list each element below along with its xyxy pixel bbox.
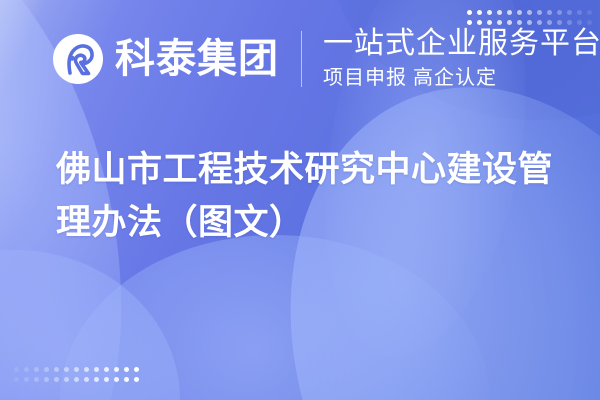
decorative-dot (24, 367, 29, 372)
ketai-logo-icon (52, 33, 104, 85)
decorative-dot (114, 367, 119, 372)
tagline-secondary: 项目申报 高企认定 (323, 64, 600, 92)
decorative-dot (64, 377, 69, 382)
decorative-dot (44, 367, 49, 372)
decorative-dot (94, 377, 99, 382)
brand-logo[interactable]: 科泰集团 (52, 33, 279, 85)
decorative-dot (124, 377, 129, 382)
decorative-dot (84, 377, 89, 382)
decorative-dot (14, 377, 19, 382)
decorative-dot (24, 377, 29, 382)
decorative-dot (134, 367, 139, 372)
decorative-dot (114, 377, 119, 382)
page-title: 佛山市工程技术研究中心建设管理办法（图文） (56, 143, 556, 249)
decorative-dot (34, 377, 39, 382)
background-blob-bottom-left (0, 250, 180, 400)
brand-wordmark: 科泰集团 (115, 39, 279, 79)
dot-grid-row (14, 367, 139, 372)
decorative-dot (54, 367, 59, 372)
decorative-dot (34, 367, 39, 372)
dot-grid-row (14, 377, 139, 382)
decorative-dot (104, 367, 109, 372)
decorative-dot (14, 367, 19, 372)
header-divider (301, 31, 302, 87)
decorative-dot (74, 367, 79, 372)
decorative-dot (134, 377, 139, 382)
decorative-dot (124, 367, 129, 372)
decorative-dot (64, 367, 69, 372)
brand-tagline: 一站式企业服务平台 项目申报 高企认定 (323, 26, 600, 91)
decorative-dot (74, 377, 79, 382)
decorative-dot (44, 377, 49, 382)
dot-grid-bottom-left (14, 367, 139, 382)
decorative-dot (104, 377, 109, 382)
promo-banner: 科泰集团 一站式企业服务平台 项目申报 高企认定 佛山市工程技术研究中心建设管理… (0, 0, 600, 400)
decorative-dot (54, 377, 59, 382)
decorative-dot (94, 367, 99, 372)
banner-header: 科泰集团 一站式企业服务平台 项目申报 高企认定 (0, 0, 600, 118)
tagline-primary: 一站式企业服务平台 (323, 26, 600, 61)
decorative-dot (84, 367, 89, 372)
background-blob-center-low (60, 235, 490, 400)
